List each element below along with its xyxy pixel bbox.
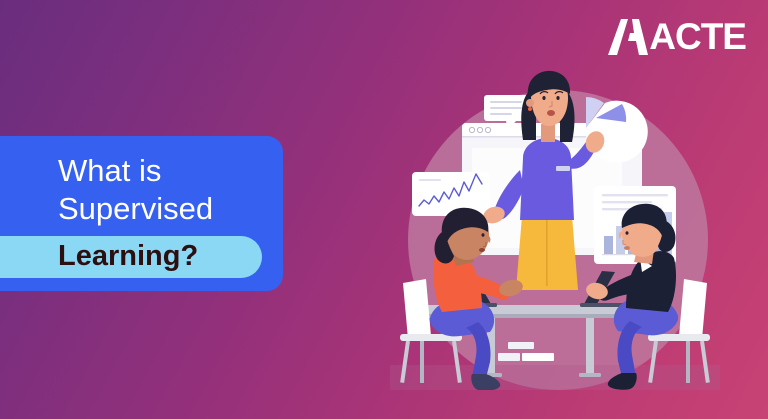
illustration [390,60,720,390]
paper-3 [522,353,554,361]
title-card: What is Supervised Learning? [0,136,283,291]
title-line-1: What is [0,152,283,190]
presenter-earring [528,107,532,111]
acte-logo-text: ACTE [649,18,746,55]
acte-a-mark [608,19,648,55]
title-highlight-bar: Learning? [0,236,262,278]
promo-banner: ACTE What is Supervised Learning? [0,0,768,419]
line-chart-card [412,172,490,216]
title-line-3: Learning? [0,240,262,273]
paper-1 [508,342,534,349]
paper-2 [498,353,520,361]
title-line-2: Supervised [0,190,283,228]
pie-chart-icon [586,97,648,163]
presenter-badge [556,166,570,171]
bar-1 [604,236,613,254]
acte-logo: ACTE [608,18,746,55]
floor [390,365,720,390]
